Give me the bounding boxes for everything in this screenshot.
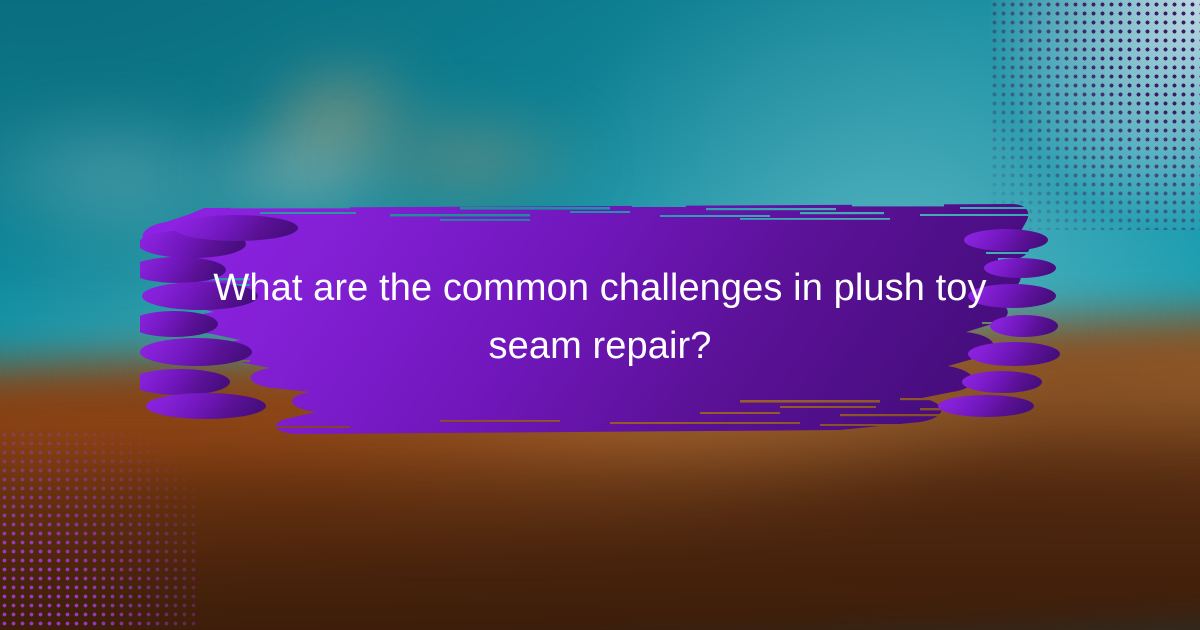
background-terrain-shadow — [0, 460, 1200, 630]
brush-stroke-shape — [140, 192, 1060, 444]
purple-brush-stroke — [140, 192, 1060, 444]
question-card: What are the common challenges in plush … — [0, 0, 1200, 630]
